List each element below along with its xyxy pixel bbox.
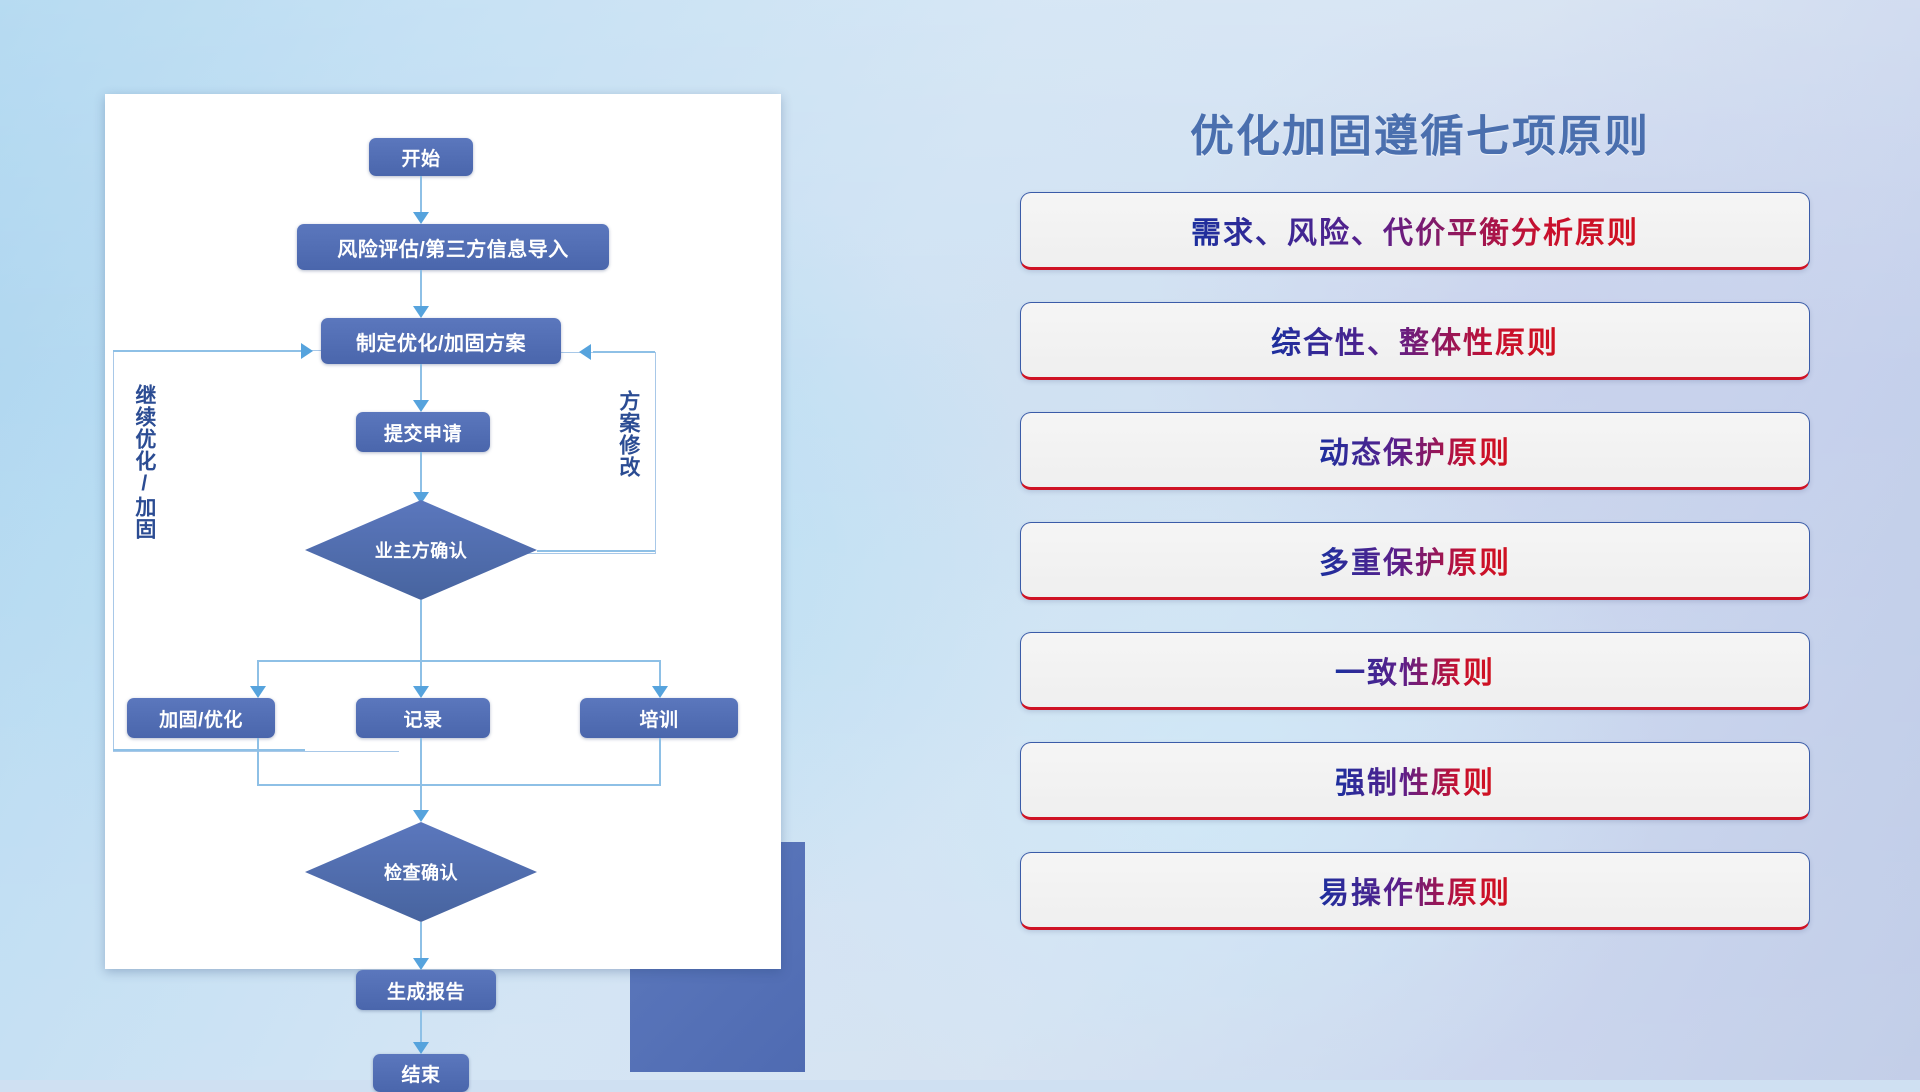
- arrowhead-start-to-risk: [413, 212, 429, 224]
- merge-bus-bottom: [257, 784, 661, 786]
- principle-label-3: 动态保护原则: [1319, 428, 1511, 472]
- node-check-confirm[interactable]: 检查确认: [305, 822, 537, 922]
- node-make-plan[interactable]: 制定优化/加固方案: [321, 318, 561, 364]
- principle-card-7[interactable]: 易操作性原则: [1020, 852, 1810, 930]
- principle-label-7: 易操作性原则: [1319, 868, 1511, 912]
- edge-reinforce-down: [257, 738, 259, 786]
- node-owner-confirm-label: 业主方确认: [305, 500, 537, 600]
- principle-label-6: 强制性原则: [1335, 758, 1495, 802]
- principle-card-6[interactable]: 强制性原则: [1020, 742, 1810, 820]
- edge-label-continue-optimize: 继续优化/加固: [133, 384, 155, 540]
- edge-label-plan-revision: 方案修改: [617, 390, 639, 478]
- node-record[interactable]: 记录: [356, 698, 490, 738]
- principle-label-2: 综合性、整体性原则: [1271, 318, 1559, 362]
- arrowhead-plan-to-submit: [413, 400, 429, 412]
- arrowhead-risk-to-plan: [413, 306, 429, 318]
- node-training[interactable]: 培训: [580, 698, 738, 738]
- principles-panel: 优化加固遵循七项原则 需求、风险、代价平衡分析原则 综合性、整体性原则 动态保护…: [1020, 100, 1820, 1000]
- edge-owner-to-split: [420, 600, 422, 662]
- edge-merge-to-check: [420, 738, 422, 816]
- arrowhead-report-to-end: [413, 1042, 429, 1054]
- node-submit-application[interactable]: 提交申请: [356, 412, 490, 452]
- split-bus-top: [257, 660, 661, 662]
- arrowhead-split-to-training: [652, 686, 668, 698]
- node-reinforce-optimize[interactable]: 加固/优化: [127, 698, 275, 738]
- arrowhead-merge-to-check: [413, 810, 429, 822]
- principle-label-4: 多重保护原则: [1319, 538, 1511, 582]
- arrowhead-split-to-reinforce: [250, 686, 266, 698]
- arrowhead-check-to-report: [413, 958, 429, 970]
- principle-card-4[interactable]: 多重保护原则: [1020, 522, 1810, 600]
- arrowhead-loop-right-into-plan: [579, 344, 591, 360]
- principle-card-3[interactable]: 动态保护原则: [1020, 412, 1810, 490]
- node-start[interactable]: 开始: [369, 138, 473, 176]
- edge-check-to-continue-loop: [113, 749, 305, 751]
- edge-owner-to-revision: [537, 550, 655, 552]
- edge-loop-right-into-plan: [593, 351, 655, 353]
- principle-card-2[interactable]: 综合性、整体性原则: [1020, 302, 1810, 380]
- node-owner-confirm[interactable]: 业主方确认: [305, 500, 537, 600]
- arrowhead-split-to-record: [413, 686, 429, 698]
- node-check-confirm-label: 检查确认: [305, 822, 537, 922]
- principle-card-1[interactable]: 需求、风险、代价平衡分析原则: [1020, 192, 1810, 270]
- node-generate-report[interactable]: 生成报告: [356, 970, 496, 1010]
- principle-card-5[interactable]: 一致性原则: [1020, 632, 1810, 710]
- node-end[interactable]: 结束: [373, 1054, 469, 1092]
- principles-title: 优化加固遵循七项原则: [1020, 100, 1820, 164]
- flowchart-panel: 开始 风险评估/第三方信息导入 制定优化/加固方案 继续优化/加固 方案修改 提…: [105, 94, 787, 974]
- edge-loop-left-into-plan: [113, 350, 303, 352]
- edge-training-down: [659, 738, 661, 786]
- principle-label-1: 需求、风险、代价平衡分析原则: [1191, 208, 1639, 252]
- arrowhead-loop-left-into-plan: [301, 343, 313, 359]
- node-risk-assessment[interactable]: 风险评估/第三方信息导入: [297, 224, 609, 270]
- principle-label-5: 一致性原则: [1335, 648, 1495, 692]
- flowchart-card: 开始 风险评估/第三方信息导入 制定优化/加固方案 继续优化/加固 方案修改 提…: [105, 94, 781, 969]
